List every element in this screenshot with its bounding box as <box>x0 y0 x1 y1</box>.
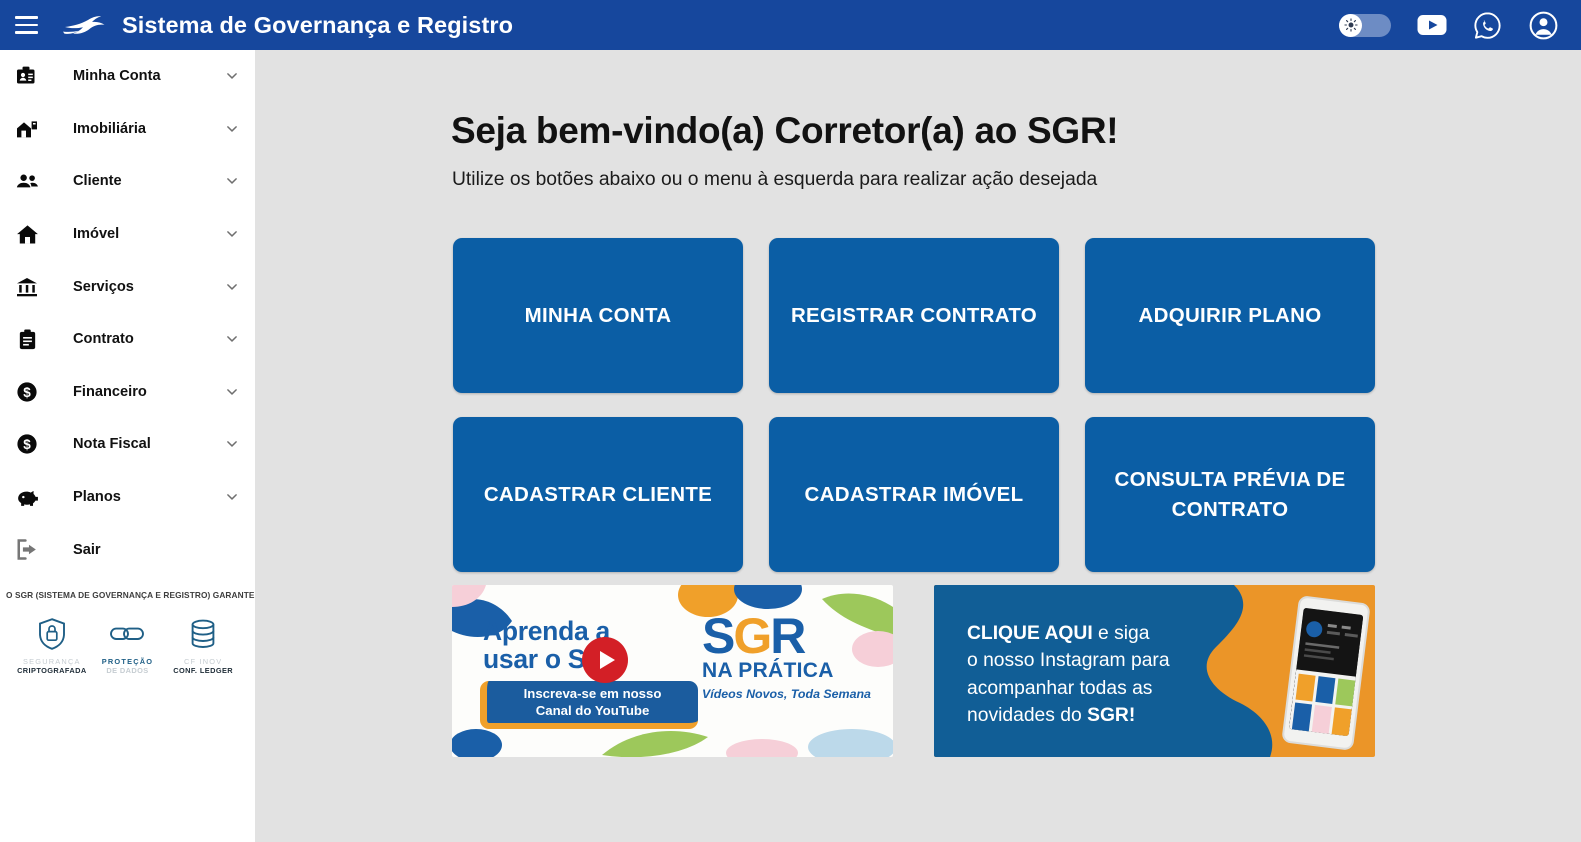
play-button-icon <box>582 637 628 683</box>
sidebar-navigation: Minha Conta Imobiliária <box>0 50 255 842</box>
account-circle-icon[interactable] <box>1528 10 1559 41</box>
sidebar-item-cliente[interactable]: Cliente <box>0 155 255 208</box>
instagram-line-4: novidades do SGR! <box>967 702 1170 729</box>
sidebar-item-contrato[interactable]: Contrato <box>0 313 255 366</box>
sidebar-item-sair[interactable]: Sair <box>0 523 255 576</box>
chevron-down-icon[interactable] <box>223 67 241 85</box>
chevron-down-icon[interactable] <box>223 330 241 348</box>
svg-text:$: $ <box>23 385 31 400</box>
badge-line-1: CF INOV <box>166 657 240 666</box>
whatsapp-icon[interactable] <box>1473 11 1502 40</box>
youtube-tagline: Vídeos Novos, Toda Semana <box>702 687 880 701</box>
chevron-down-icon[interactable] <box>223 383 241 401</box>
logout-icon <box>12 535 42 565</box>
theme-toggle[interactable] <box>1339 14 1391 37</box>
sidebar-item-label: Nota Fiscal <box>73 436 151 452</box>
main-content: Seja bem-vindo(a) Corretor(a) ao SGR! Ut… <box>255 50 1581 842</box>
quick-action-grid: MINHA CONTA REGISTRAR CONTRATO ADQUIRIR … <box>453 238 1383 572</box>
instagram-line-4-bold: SGR! <box>1087 705 1135 726</box>
minha-conta-button[interactable]: MINHA CONTA <box>453 238 743 393</box>
chevron-down-icon[interactable] <box>223 488 241 506</box>
sidebar-item-imovel[interactable]: Imóvel <box>0 208 255 261</box>
youtube-icon[interactable] <box>1417 14 1447 36</box>
sidebar-item-label: Sair <box>73 542 101 558</box>
welcome-heading: Seja bem-vindo(a) Corretor(a) ao SGR! <box>451 110 1118 152</box>
instagram-line-4-prefix: novidades do <box>967 705 1087 726</box>
chain-link-icon <box>90 615 164 653</box>
instagram-text-rest: e siga <box>1093 623 1150 644</box>
sidebar-item-label: Planos <box>73 489 121 505</box>
people-icon <box>12 166 42 196</box>
chevron-down-icon[interactable] <box>223 278 241 296</box>
instagram-promo-banner[interactable]: CLIQUE AQUI e siga o nosso Instagram par… <box>934 585 1375 757</box>
sgr-letter-r: R <box>770 608 804 664</box>
youtube-subscribe-button[interactable]: Inscreva-se em nosso Canal do YouTube <box>480 681 698 729</box>
sgr-letter-s: S <box>702 608 733 664</box>
security-guarantee-footer: O SGR (SISTEMA DE GOVERNANÇA E REGISTRO)… <box>0 590 255 675</box>
dollar-coin-icon: $ <box>12 429 42 459</box>
badge-line-2: CONF. LEDGER <box>166 666 240 675</box>
sidebar-item-label: Serviços <box>73 279 134 295</box>
database-icon <box>166 615 240 653</box>
home-icon <box>12 219 42 249</box>
sun-icon <box>1339 14 1362 37</box>
instagram-line-2: o nosso Instagram para <box>967 647 1170 674</box>
chevron-down-icon[interactable] <box>223 435 241 453</box>
sidebar-item-servicos[interactable]: Serviços <box>0 260 255 313</box>
hamburger-icon[interactable] <box>9 10 43 40</box>
chevron-down-icon[interactable] <box>223 172 241 190</box>
badge-protecao-de-dados: PROTEÇÃO DE DADOS <box>90 615 164 675</box>
sidebar-item-financeiro[interactable]: $ Financeiro <box>0 366 255 419</box>
sgr-wordmark: SGR <box>702 613 880 661</box>
clipboard-icon <box>12 324 42 354</box>
youtube-cta-line-1: Inscreva-se em nosso <box>524 685 662 702</box>
bank-icon <box>12 272 42 302</box>
sidebar-item-imobiliaria[interactable]: Imobiliária <box>0 103 255 156</box>
youtube-promo-banner[interactable]: Aprenda a usar o SGR Inscreva-se em noss… <box>452 585 893 757</box>
guarantee-badges: SEGURANÇA CRIPTOGRAFADA PROTEÇÃO DE DADO… <box>6 615 249 675</box>
sgr-letter-g: G <box>733 608 770 664</box>
consulta-previa-contrato-button[interactable]: CONSULTA PRÉVIA DE CONTRATO <box>1085 417 1375 572</box>
sgr-na-pratica-logo: SGR NA PRÁTICA Vídeos Novos, Toda Semana <box>702 613 880 701</box>
sidebar-item-label: Financeiro <box>73 384 147 400</box>
promo-banner-row: Aprenda a usar o SGR Inscreva-se em noss… <box>452 585 1375 757</box>
sidebar-item-label: Imobiliária <box>73 121 146 137</box>
dollar-coin-icon: $ <box>12 377 42 407</box>
chevron-down-icon[interactable] <box>223 120 241 138</box>
cadastrar-imovel-button[interactable]: CADASTRAR IMÓVEL <box>769 417 1059 572</box>
badge-id-icon <box>12 61 42 91</box>
sidebar-item-label: Contrato <box>73 331 134 347</box>
sidebar-item-label: Imóvel <box>73 226 119 242</box>
sidebar-item-label: Cliente <box>73 173 122 189</box>
instagram-bold-lead: CLIQUE AQUI <box>967 623 1093 644</box>
real-estate-agency-icon <box>12 114 42 144</box>
sgr-logo-subtitle: NA PRÁTICA <box>702 659 880 683</box>
guarantee-title: O SGR (SISTEMA DE GOVERNANÇA E REGISTRO)… <box>6 590 249 600</box>
smartphone-icon <box>1281 595 1371 751</box>
sidebar-item-planos[interactable]: Planos <box>0 471 255 524</box>
instagram-line-1: CLIQUE AQUI e siga <box>967 620 1170 647</box>
registrar-contrato-button[interactable]: REGISTRAR CONTRATO <box>769 238 1059 393</box>
badge-line-1: PROTEÇÃO <box>90 657 164 666</box>
shield-lock-icon <box>15 615 89 653</box>
badge-seguranca-criptografada: SEGURANÇA CRIPTOGRAFADA <box>15 615 89 675</box>
instagram-banner-text: CLIQUE AQUI e siga o nosso Instagram par… <box>967 620 1170 730</box>
bird-logo-icon <box>61 10 109 40</box>
phone-screen <box>1289 608 1363 736</box>
cadastrar-cliente-button[interactable]: CADASTRAR CLIENTE <box>453 417 743 572</box>
badge-line-1: SEGURANÇA <box>15 657 89 666</box>
badge-cf-inov-conf-ledger: CF INOV CONF. LEDGER <box>166 615 240 675</box>
piggy-bank-icon <box>12 482 42 512</box>
badge-line-2: DE DADOS <box>90 666 164 675</box>
welcome-subtitle: Utilize os botões abaixo ou o menu à esq… <box>452 169 1097 191</box>
adquirir-plano-button[interactable]: ADQUIRIR PLANO <box>1085 238 1375 393</box>
youtube-cta-line-2: Canal do YouTube <box>524 702 662 719</box>
chevron-down-icon[interactable] <box>223 225 241 243</box>
header-actions <box>1339 10 1559 41</box>
sidebar-item-minha-conta[interactable]: Minha Conta <box>0 50 255 103</box>
page-title: Sistema de Governança e Registro <box>122 12 513 39</box>
svg-text:$: $ <box>23 438 31 453</box>
app-header: Sistema de Governança e Registro <box>0 0 1581 50</box>
badge-line-2: CRIPTOGRAFADA <box>15 666 89 675</box>
sidebar-item-label: Minha Conta <box>73 68 161 84</box>
instagram-line-3: acompanhar todas as <box>967 675 1170 702</box>
sidebar-item-nota-fiscal[interactable]: $ Nota Fiscal <box>0 418 255 471</box>
